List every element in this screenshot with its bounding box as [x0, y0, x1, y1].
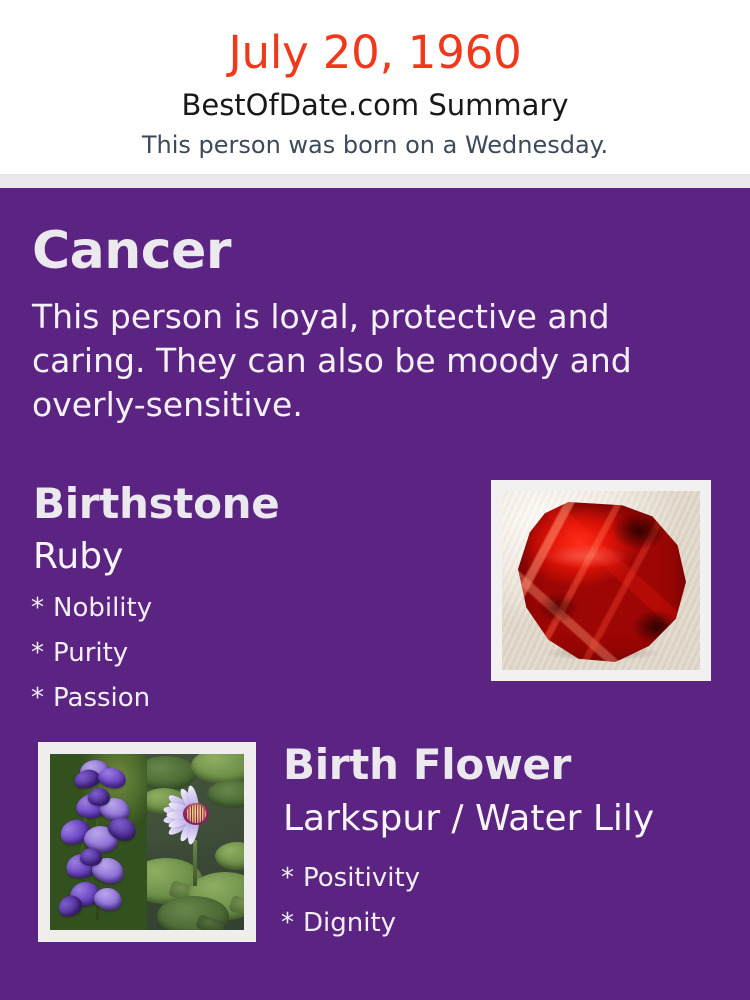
- summary-page: July 20, 1960 BestOfDate.com Summary Thi…: [0, 0, 750, 1000]
- zodiac-sign-name: Cancer: [32, 220, 231, 282]
- asterisk-bullet-icon: *: [31, 593, 44, 623]
- birthstone-image-frame: [491, 480, 711, 681]
- list-item-label: Positivity: [303, 863, 420, 893]
- birth-flower-trait-list: *Positivity *Dignity: [281, 856, 721, 946]
- list-item-label: Purity: [53, 638, 128, 668]
- asterisk-bullet-icon: *: [281, 863, 294, 893]
- water-lily-photo: [147, 754, 244, 930]
- birth-flower-heading: Birth Flower: [283, 739, 571, 791]
- birth-flower-name: Larkspur / Water Lily: [283, 797, 654, 841]
- list-item: *Passion: [31, 676, 451, 721]
- birthstone-trait-list: *Nobility *Purity *Passion: [31, 586, 451, 721]
- birth-flower-photo-pair: [50, 754, 244, 930]
- page-title: July 20, 1960: [0, 27, 750, 79]
- list-item: *Purity: [31, 631, 451, 676]
- birthstone-name: Ruby: [33, 535, 123, 579]
- list-item: *Nobility: [31, 586, 451, 631]
- list-item-label: Passion: [53, 683, 150, 713]
- list-item-label: Dignity: [303, 908, 396, 938]
- list-item-label: Nobility: [53, 593, 152, 623]
- site-subtitle: BestOfDate.com Summary: [0, 88, 750, 122]
- water-lily-bloom-icon: [161, 784, 231, 846]
- header-divider: [0, 174, 750, 188]
- zodiac-description: This person is loyal, protective and car…: [32, 295, 672, 427]
- birthstone-photo: [502, 491, 700, 670]
- list-item: *Dignity: [281, 901, 721, 946]
- asterisk-bullet-icon: *: [31, 683, 44, 713]
- birth-flower-image-frame: [38, 742, 256, 942]
- birth-day-note: This person was born on a Wednesday.: [0, 130, 750, 160]
- list-item: *Positivity: [281, 856, 721, 901]
- larkspur-photo: [50, 754, 147, 930]
- birthstone-heading: Birthstone: [33, 478, 279, 530]
- lily-stamen-center: [183, 803, 209, 825]
- asterisk-bullet-icon: *: [281, 908, 294, 938]
- page-header: July 20, 1960 BestOfDate.com Summary Thi…: [0, 0, 750, 174]
- asterisk-bullet-icon: *: [31, 638, 44, 668]
